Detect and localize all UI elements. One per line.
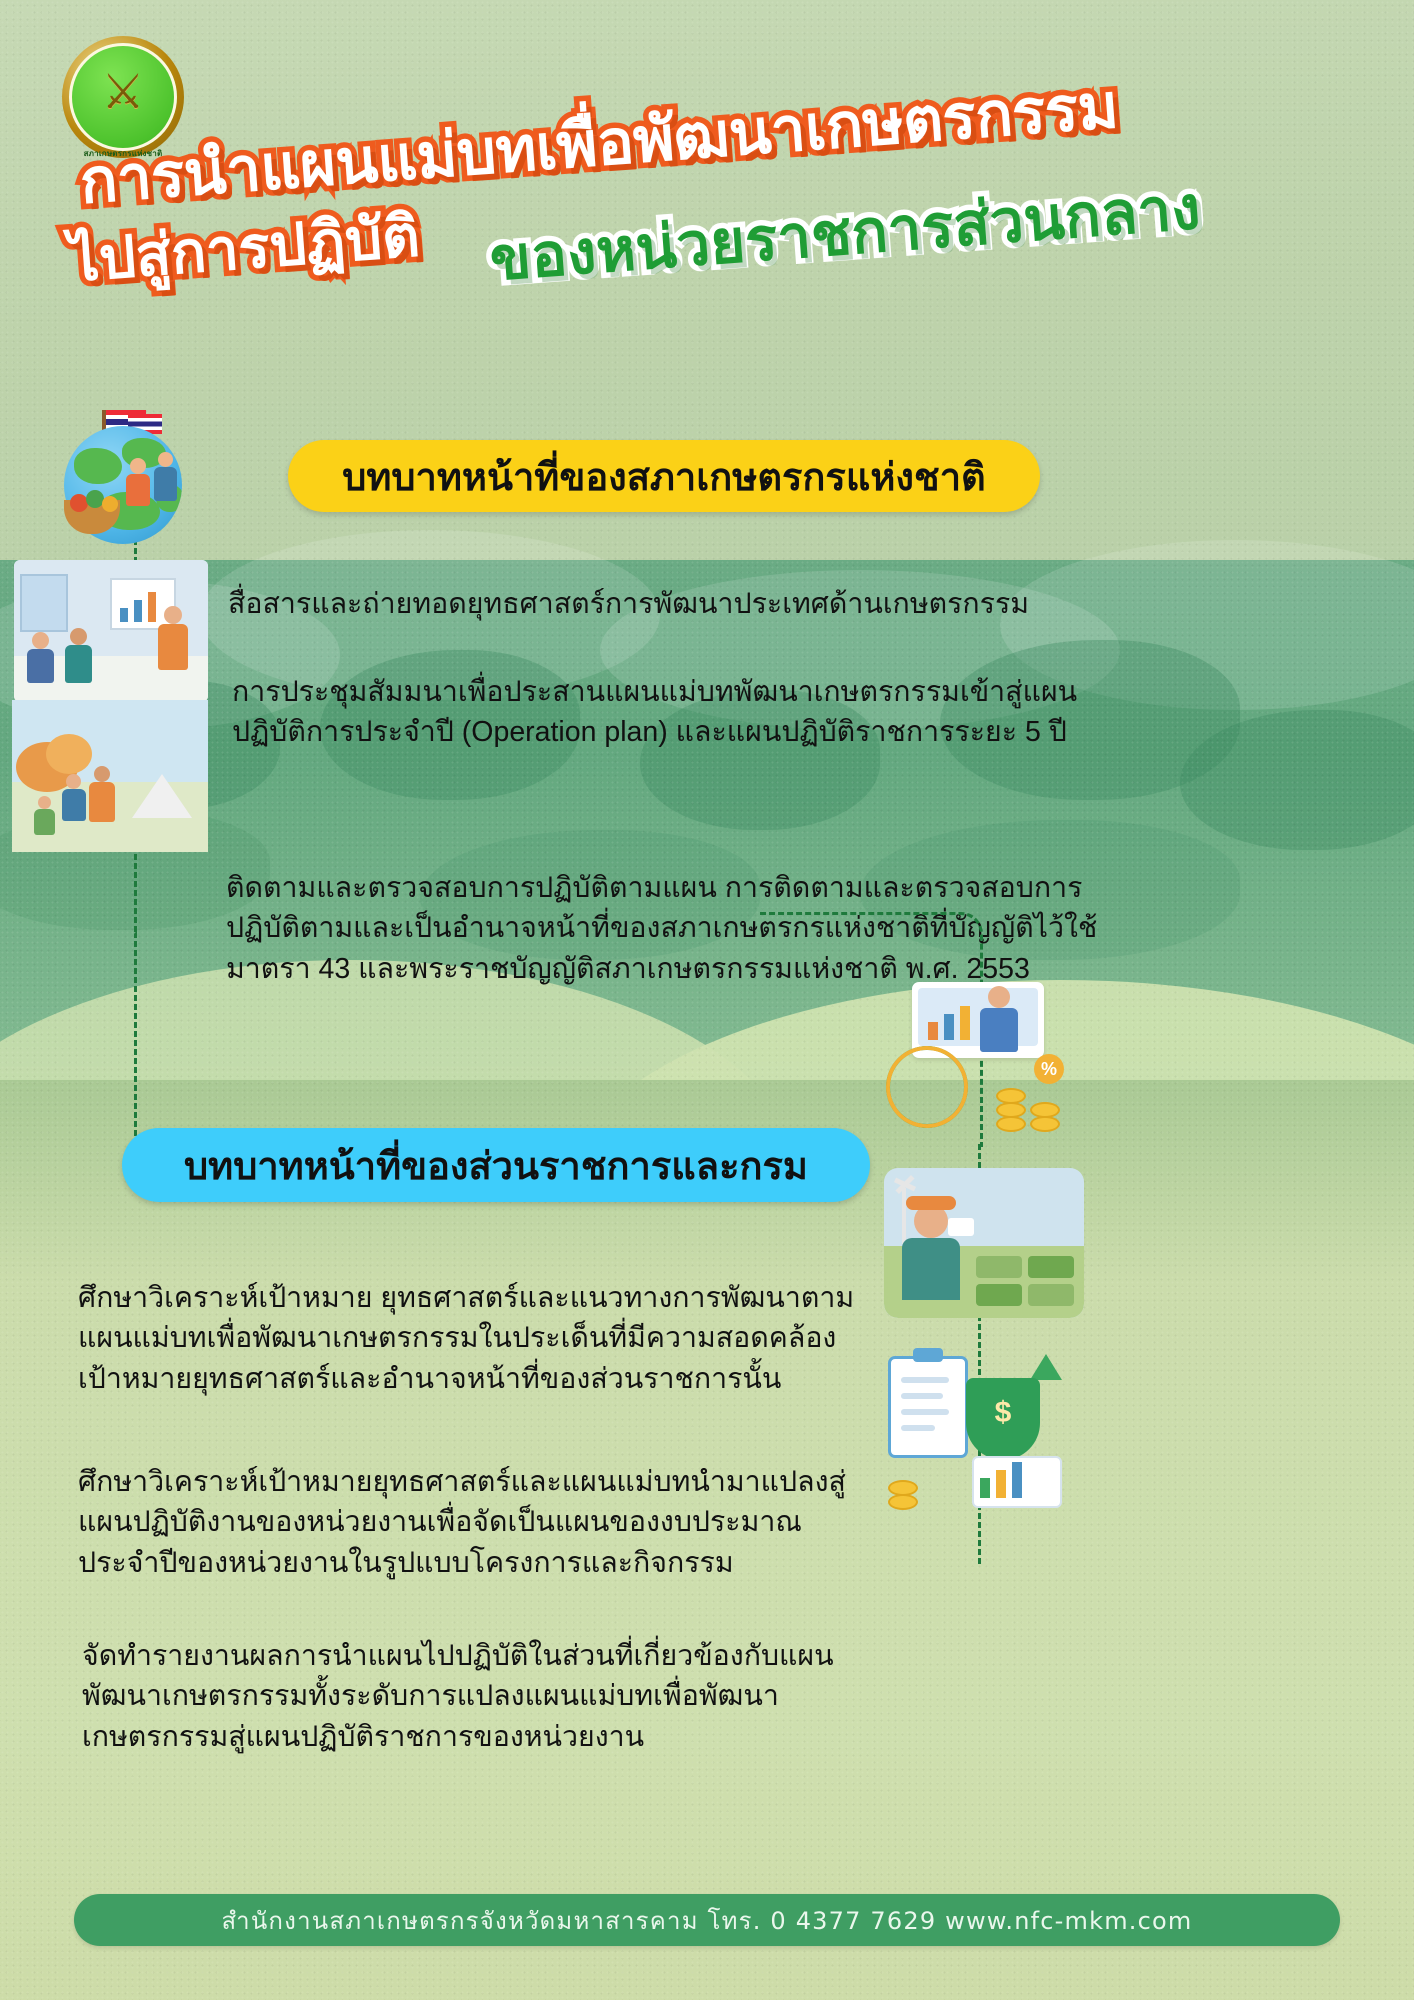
background-green-band: [0, 560, 1414, 1120]
footer-contact-bar: สำนักงานสภาเกษตรกรจังหวัดมหาสารคาม โทร. …: [74, 1894, 1340, 1946]
logo-green-disc: ⚔: [69, 43, 177, 151]
growth-arrow-icon: [1030, 1354, 1062, 1380]
illustration-field-visit: [12, 700, 208, 852]
connector-left-corner: [134, 932, 137, 1145]
council-item-1-text: สื่อสารและถ่ายทอดยุทธศาสตร์การพัฒนาประเท…: [228, 584, 1108, 624]
illustration-report: $: [880, 1348, 1090, 1520]
poster-canvas: ⚔ สภาเกษตรกรแห่งชาติ การนำแผนแม่บทเพื่อพ…: [0, 0, 1414, 2000]
illustration-science-analysis: %: [884, 976, 1084, 1148]
logo-emblem-icon: ⚔: [101, 69, 144, 117]
section-banner-government: บทบาทหน้าที่ของส่วนราชการและกรม: [122, 1128, 870, 1202]
title-line-2-orange: ไปสู่การปฏิบัติ: [68, 206, 422, 292]
government-item-3-text: จัดทำรายงานผลการนำแผนไปปฏิบัติในส่วนที่เ…: [82, 1636, 872, 1757]
government-item-1-text: ศึกษาวิเคราะห์เป้าหมาย ยุทธศาสตร์และแนวท…: [78, 1278, 868, 1399]
shield-badge-icon: $: [966, 1378, 1040, 1460]
council-item-2-text: การประชุมสัมมนาเพื่อประสานแผนแม่บทพัฒนาเ…: [232, 672, 1112, 753]
windmill-icon: [902, 1188, 906, 1244]
farmer-hat-icon: [906, 1196, 956, 1210]
section-banner-council: บทบาทหน้าที่ของสภาเกษตรกรแห่งชาติ: [288, 440, 1040, 512]
illustration-meeting: [14, 560, 208, 702]
presentation-board-icon: [110, 578, 176, 630]
government-item-2-text: ศึกษาวิเคราะห์เป้าหมายยุทธศาสตร์และแผนแม…: [78, 1462, 878, 1583]
tent-icon: [132, 774, 192, 818]
illustration-globe: [30, 408, 206, 558]
title-line-2-green: ของหน่วยราชการส่วนกลาง: [488, 176, 1203, 291]
clipboard-icon: [888, 1356, 968, 1458]
council-item-3-text: ติดตามและตรวจสอบการปฏิบัติตามแผน การติดต…: [226, 868, 1121, 989]
organization-logo: ⚔ สภาเกษตรกรแห่งชาติ: [62, 36, 184, 158]
poster-title: การนำแผนแม่บทเพื่อพัฒนาเกษตรกรรม ไปสู่กา…: [70, 150, 1140, 330]
illustration-smart-farm: [884, 1168, 1084, 1318]
